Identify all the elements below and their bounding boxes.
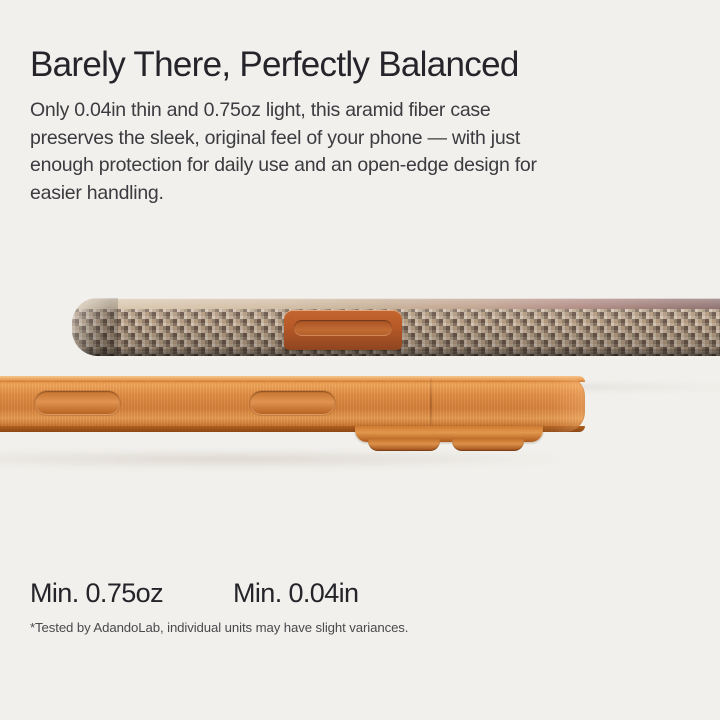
- camera-lens-two: [452, 438, 524, 451]
- stat-thickness: Min. 0.04in: [233, 578, 358, 609]
- stats-row: Min. 0.75oz Min. 0.04in: [30, 578, 358, 609]
- case-button-inset: [294, 320, 392, 336]
- aramid-case-profile: [72, 298, 720, 364]
- page-title: Barely There, Perfectly Balanced: [30, 44, 519, 86]
- phone-drop-shadow: [0, 454, 560, 466]
- body-paragraph: Only 0.04in thin and 0.75oz light, this …: [30, 97, 575, 207]
- phone-side-profile: [0, 376, 585, 466]
- case-bottom-edge: [72, 349, 720, 356]
- product-photo-stage: [0, 270, 720, 470]
- stat-weight: Min. 0.75oz: [30, 578, 163, 609]
- phone-top-chamfer: [0, 376, 585, 382]
- product-feature-page: Barely There, Perfectly Balanced Only 0.…: [0, 0, 720, 720]
- disclaimer-text: *Tested by AdandoLab, individual units m…: [30, 620, 408, 635]
- volume-down-button: [250, 391, 335, 415]
- camera-lens-one: [368, 438, 440, 451]
- case-top-lip: [72, 298, 720, 309]
- phone-antenna-seam: [430, 378, 432, 430]
- volume-up-button: [35, 391, 120, 415]
- case-button-cutout: [284, 310, 402, 350]
- phone-right-rounded-corner: [515, 376, 585, 432]
